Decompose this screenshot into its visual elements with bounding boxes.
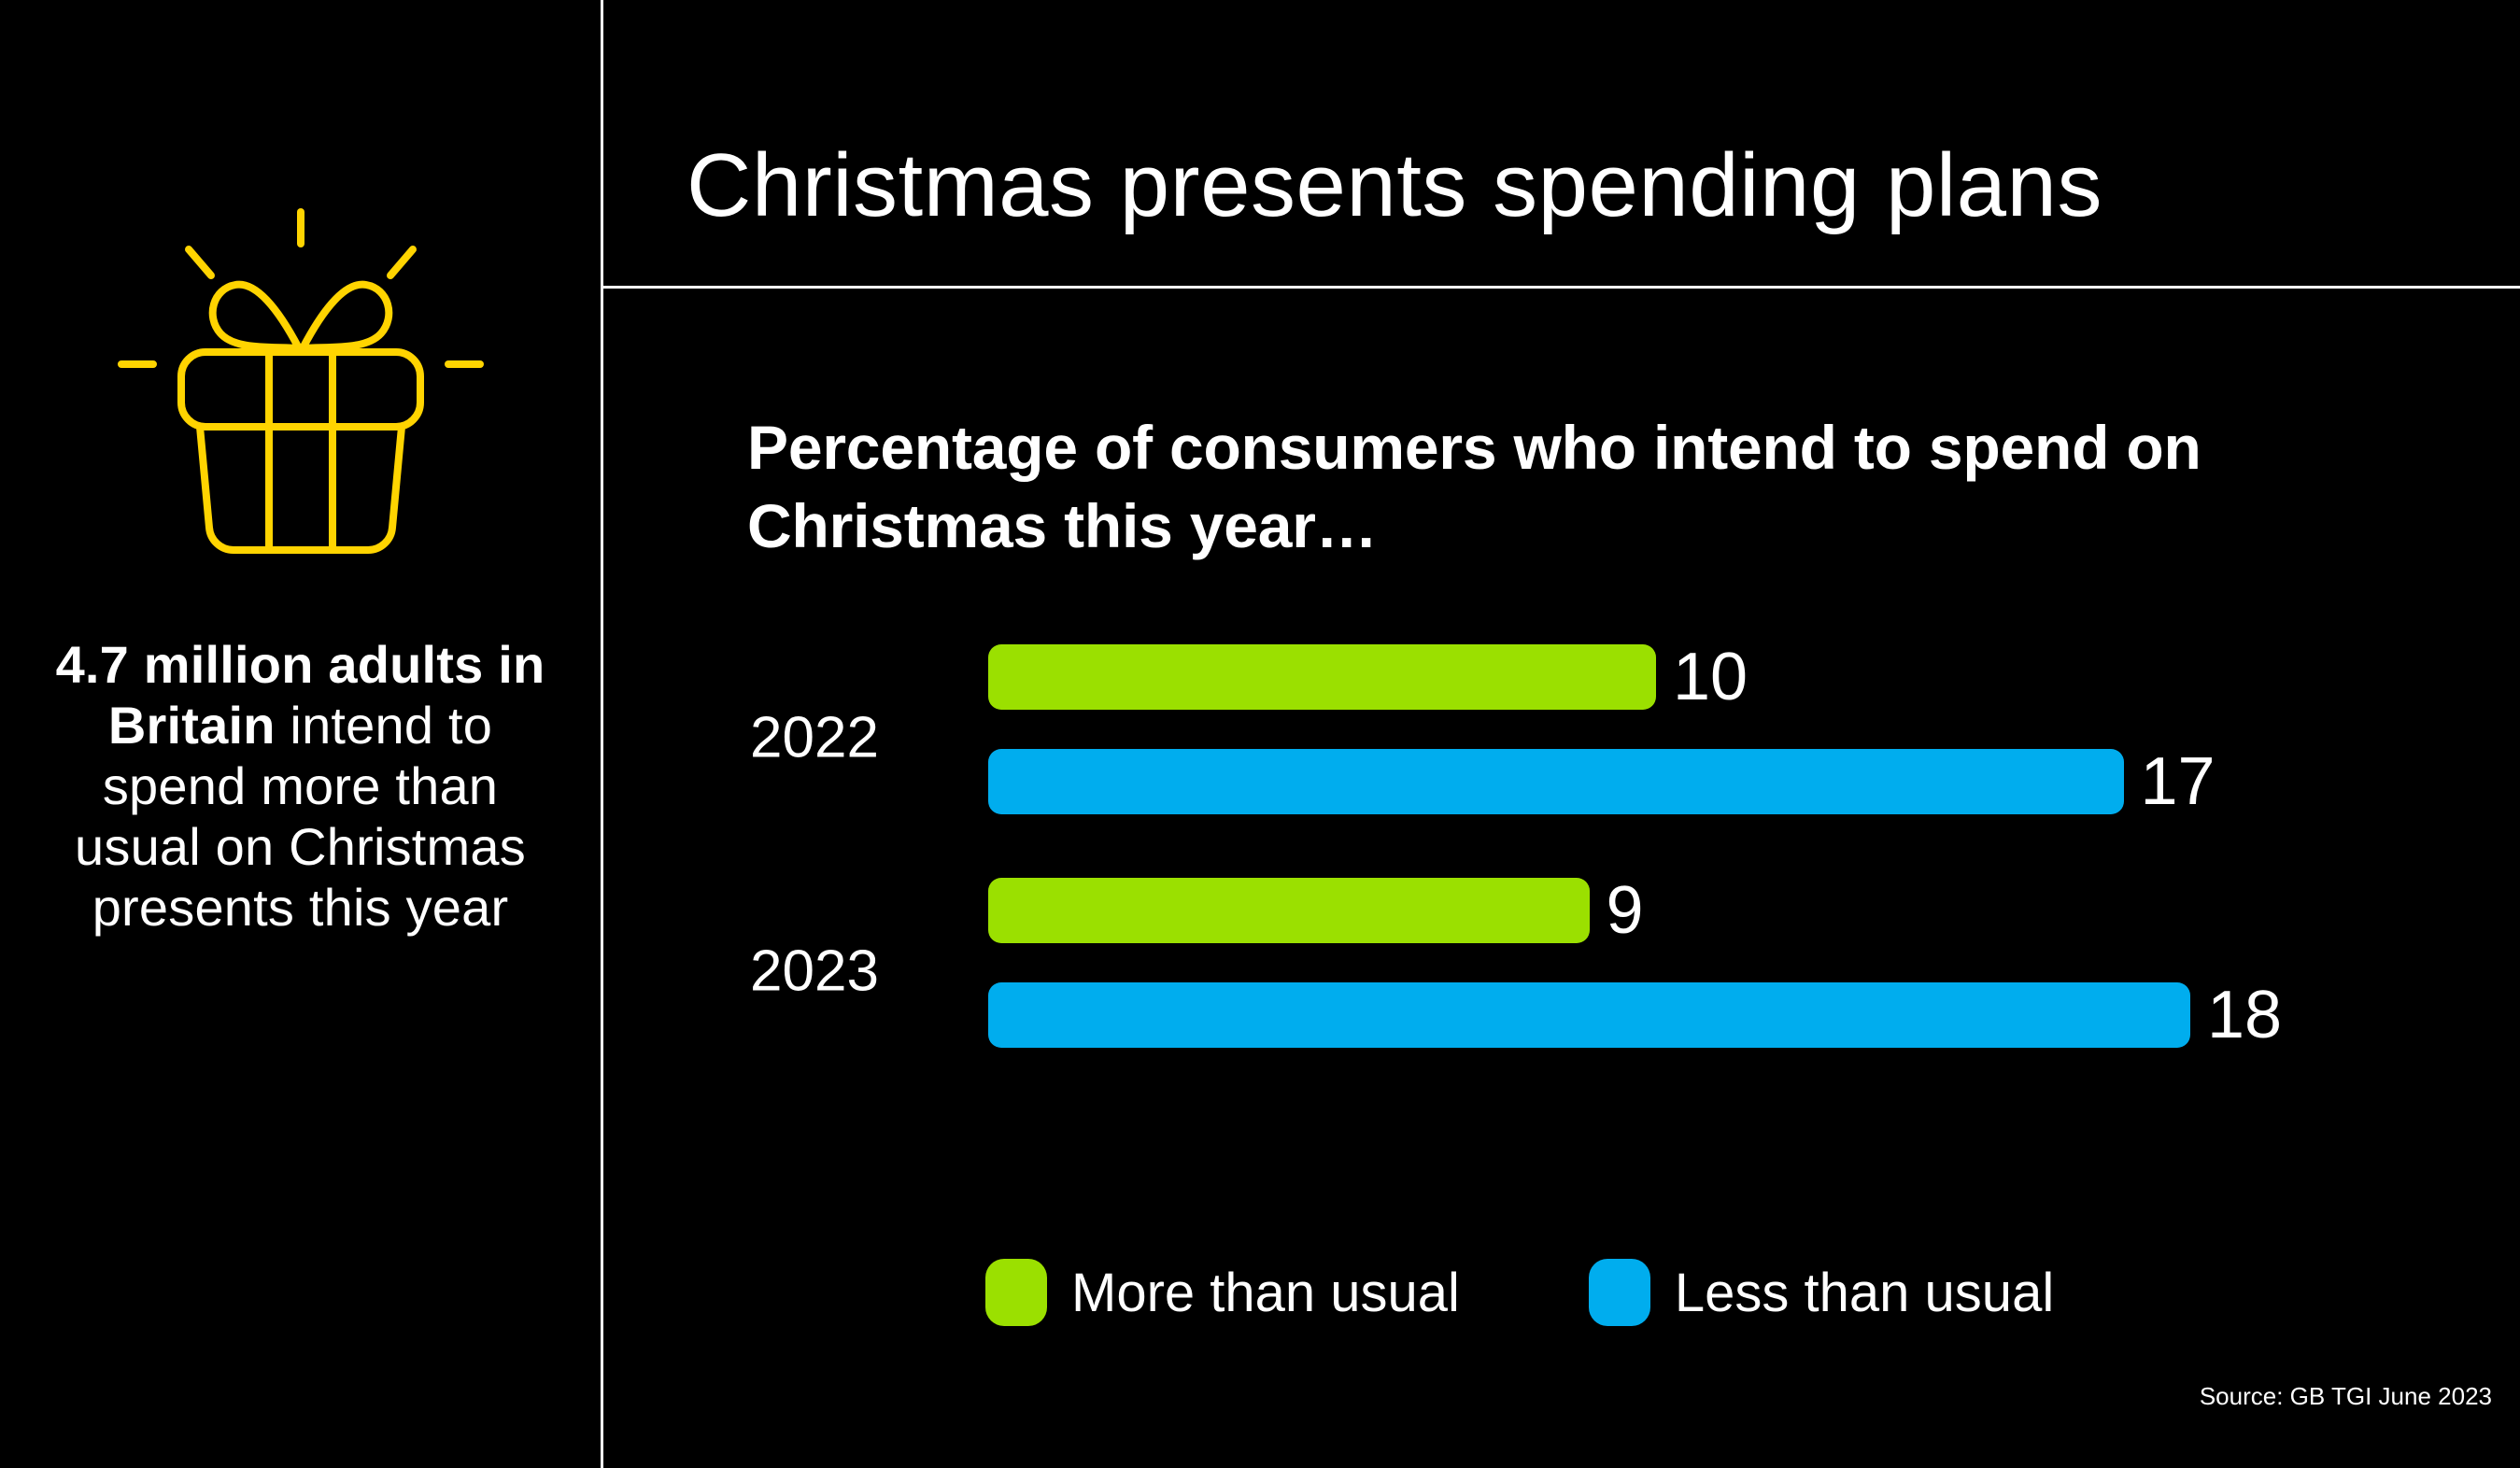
header-rule-horizontal xyxy=(603,286,2520,289)
bar-value-2022-more: 10 xyxy=(1673,643,1748,711)
bar-row-2023-less: 18 xyxy=(988,982,2282,1048)
legend-item-more: More than usual xyxy=(985,1259,1460,1326)
legend-swatch-less-icon xyxy=(1589,1259,1650,1326)
bar-row-2023-more: 9 xyxy=(988,878,1644,943)
page-title: Christmas presents spending plans xyxy=(687,134,2461,237)
chart-subtitle: Percentage of consumers who intend to sp… xyxy=(747,408,2260,566)
chart-legend: More than usual Less than usual xyxy=(985,1259,2054,1326)
bar-group-2023: 2023 9 18 xyxy=(601,868,2520,1074)
left-panel-caption: 4.7 million adults in Britain intend to … xyxy=(47,635,554,939)
bar-2022-less xyxy=(988,749,2124,814)
gift-box-icon xyxy=(95,191,506,565)
bar-value-2023-less: 18 xyxy=(2207,981,2282,1049)
source-note: Source: GB TGI June 2023 xyxy=(2200,1382,2492,1411)
category-label-2023: 2023 xyxy=(750,939,965,1005)
category-label-2022: 2022 xyxy=(750,705,965,771)
legend-label-less: Less than usual xyxy=(1675,1262,2054,1324)
bar-2023-more xyxy=(988,878,1590,943)
bar-group-2022: 2022 10 17 xyxy=(601,635,2520,840)
legend-item-less: Less than usual xyxy=(1589,1259,2054,1326)
bar-value-2022-less: 17 xyxy=(2141,748,2216,815)
bar-value-2023-more: 9 xyxy=(1607,877,1644,944)
legend-label-more: More than usual xyxy=(1071,1262,1460,1324)
bar-row-2022-more: 10 xyxy=(988,644,1748,710)
bar-2023-less xyxy=(988,982,2190,1048)
bar-row-2022-less: 17 xyxy=(988,749,2216,814)
bar-2022-more xyxy=(988,644,1656,710)
legend-swatch-more-icon xyxy=(985,1259,1047,1326)
left-panel: 4.7 million adults in Britain intend to … xyxy=(0,0,601,1468)
bar-chart: 2022 10 17 2023 9 18 xyxy=(601,598,2520,1177)
